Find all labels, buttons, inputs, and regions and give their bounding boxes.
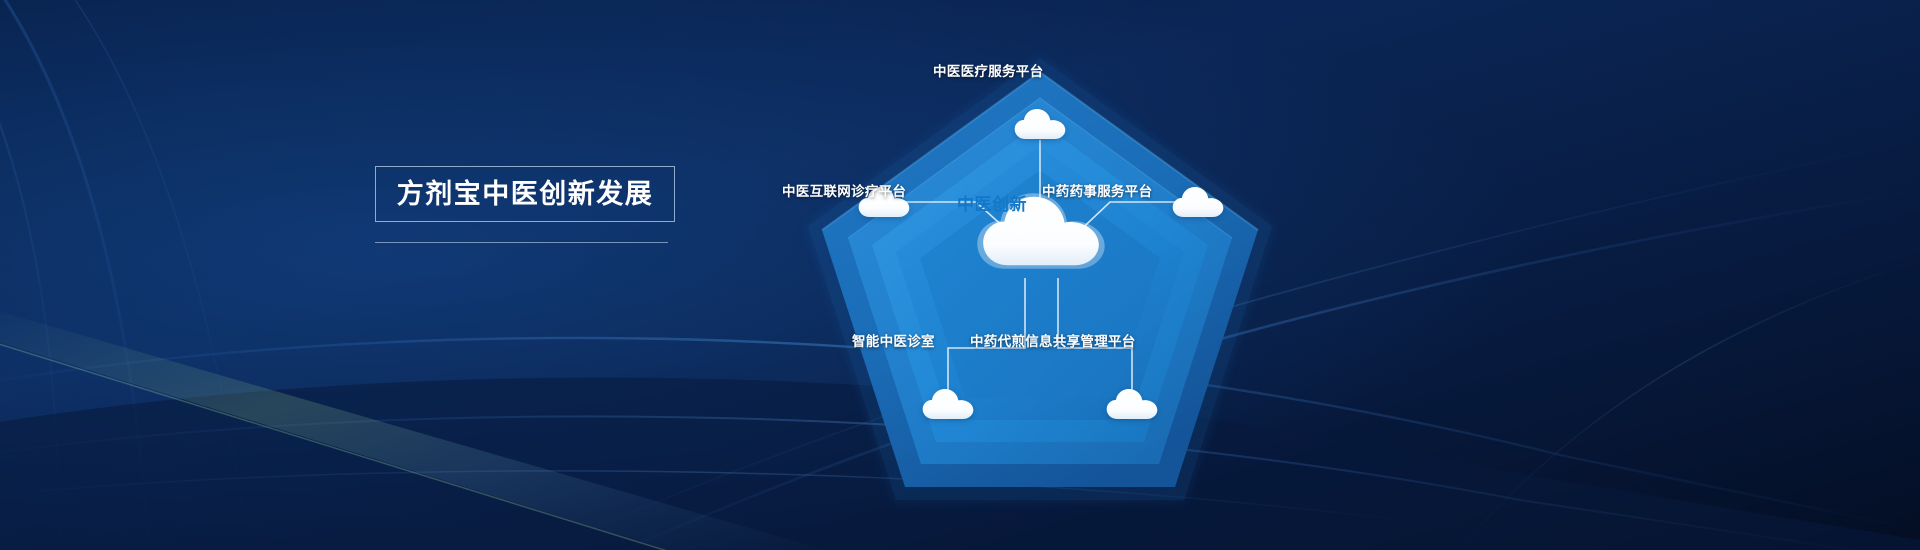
pentagon-graphic [780, 30, 1300, 430]
pentagon-diagram: 中医创新 中医医疗服务平台 中药药事服务平台 中药代煎信息共享管理平台 智能中医… [780, 30, 1300, 430]
node-label-right: 中药药事服务平台 [1042, 180, 1152, 200]
node-label-top: 中医医疗服务平台 [933, 60, 1043, 80]
node-label-left: 中医互联网诊疗平台 [782, 180, 906, 200]
node-label-bottom-left: 智能中医诊室 [852, 330, 935, 350]
banner-root: 方剂宝中医创新发展 [0, 0, 1920, 550]
page-title: 方剂宝中医创新发展 [397, 181, 654, 208]
hero-title-block: 方剂宝中医创新发展 [375, 166, 675, 243]
node-label-bottom-right: 中药代煎信息共享管理平台 [970, 330, 1136, 350]
title-frame: 方剂宝中医创新发展 [375, 166, 675, 222]
title-underline [375, 242, 668, 243]
